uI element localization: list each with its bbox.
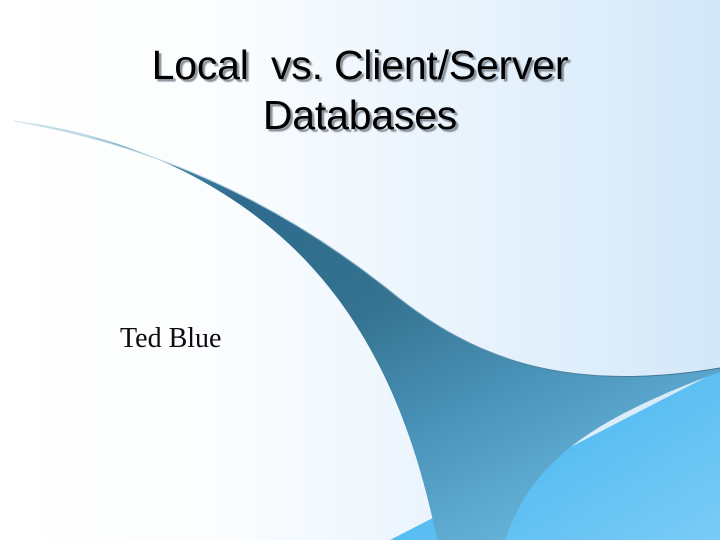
page-title: Local vs. Client/Server Databases: [60, 40, 660, 140]
author-name: Ted Blue: [120, 322, 420, 356]
subtitle-placeholder[interactable]: Ted Blue: [120, 322, 420, 356]
title-slide: Local vs. Client/Server Databases Ted Bl…: [0, 0, 720, 540]
title-placeholder[interactable]: Local vs. Client/Server Databases: [60, 40, 660, 140]
